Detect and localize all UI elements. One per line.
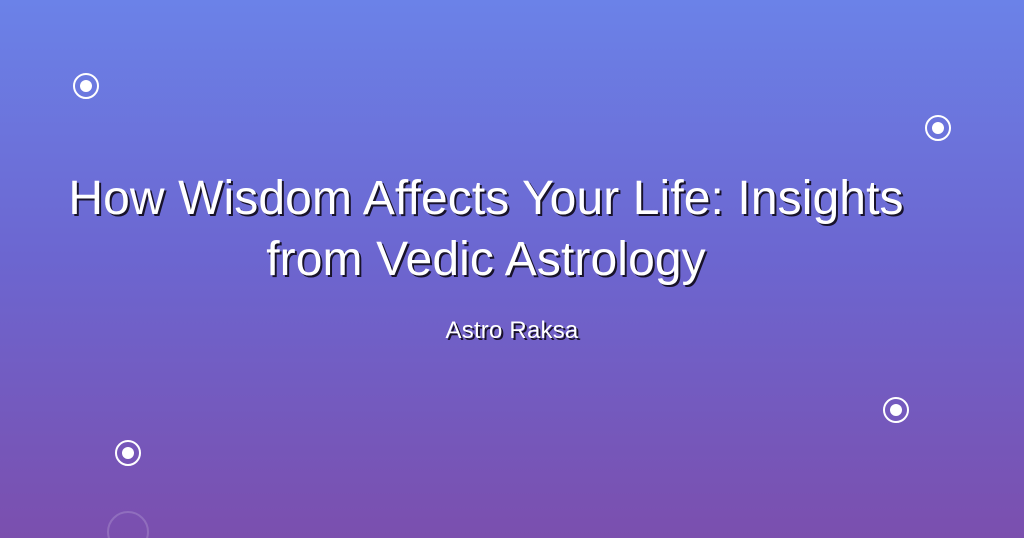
page-title: How Wisdom Affects Your Life: Insights f…: [0, 168, 972, 290]
slide-content: How Wisdom Affects Your Life: Insights f…: [0, 0, 1024, 538]
title-slide: How Wisdom Affects Your Life: Insights f…: [0, 0, 1024, 538]
slide-subtitle: Astro Raksa: [0, 316, 1024, 346]
